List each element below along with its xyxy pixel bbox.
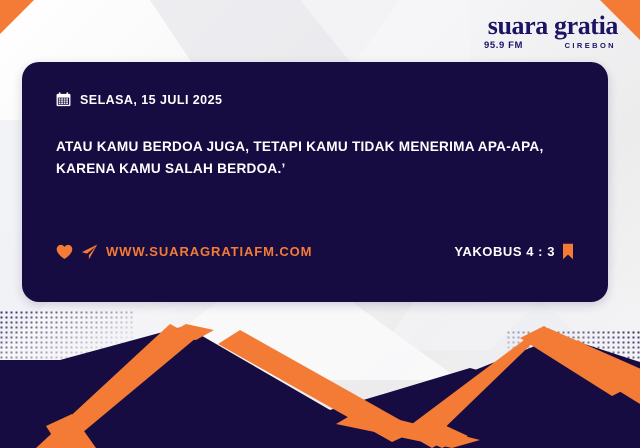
bookmark-icon (562, 243, 574, 260)
verse-reference-label: YAKOBUS 4 : 3 (454, 244, 555, 259)
logo-frequency: 95.9 FM (484, 40, 523, 51)
verse-card: SELASA, 15 JULI 2025 ATAU KAMU BERDOA JU… (22, 62, 608, 302)
verse-text: ATAU KAMU BERDOA JUGA, TETAPI KAMU TIDAK… (56, 136, 561, 180)
calendar-icon (56, 92, 71, 107)
logo-city: CIREBON (565, 41, 616, 50)
verse-reference-group: YAKOBUS 4 : 3 (454, 243, 574, 260)
send-icon (81, 244, 98, 260)
card-footer: WWW.SUARAGRATIAFM.COM YAKOBUS 4 : 3 (56, 243, 574, 260)
date-row: SELASA, 15 JULI 2025 (56, 92, 574, 107)
station-logo: suara gratia 95.9 FM CIREBON (458, 13, 618, 51)
website-label: WWW.SUARAGRATIAFM.COM (106, 244, 312, 259)
logo-subline: 95.9 FM CIREBON (458, 40, 618, 51)
bottom-mountain-artwork (0, 318, 640, 448)
date-label: SELASA, 15 JULI 2025 (80, 93, 222, 107)
poster-canvas: suara gratia 95.9 FM CIREBON (0, 0, 640, 448)
corner-triangle-top-left (0, 0, 34, 34)
website-group[interactable]: WWW.SUARAGRATIAFM.COM (56, 244, 312, 260)
heart-icon (56, 244, 73, 260)
logo-wordmark: suara gratia (458, 13, 618, 39)
